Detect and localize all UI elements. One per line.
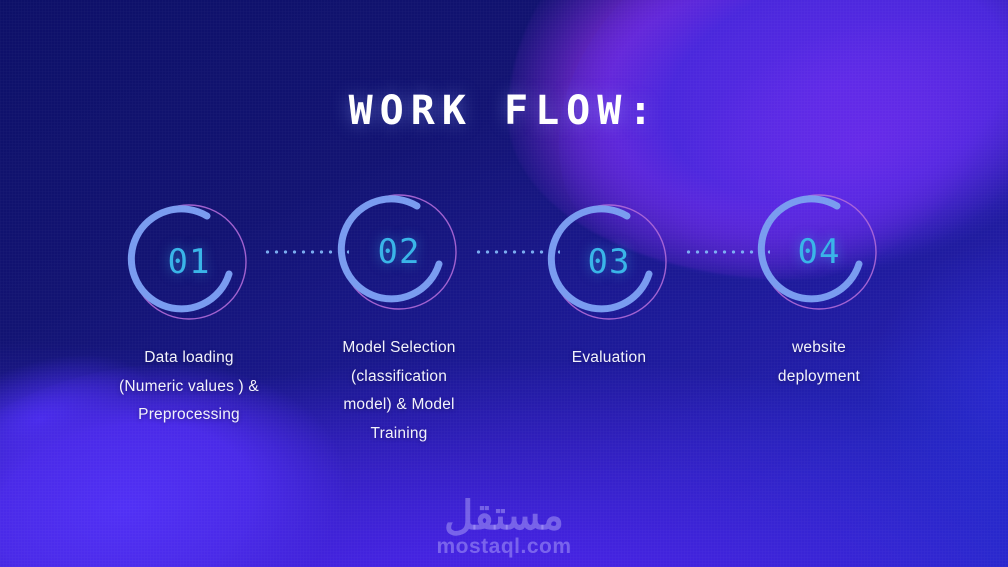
watermark-domain: mostaql.com <box>436 535 571 559</box>
step-label-04: website deployment <box>724 334 914 391</box>
workflow-step-02[interactable]: 02 Model Selection (classification model… <box>294 188 504 449</box>
workflow-slide: WORK FLOW: 01 Data loading (Numeric valu… <box>0 0 1008 567</box>
workflow-step-04[interactable]: 04 website deployment <box>714 188 924 391</box>
page-title: WORK FLOW: <box>0 88 1008 134</box>
step-circle-02: 02 <box>335 188 463 316</box>
step-number-02: 02 <box>378 235 421 269</box>
step-number-03: 03 <box>588 245 631 279</box>
watermark: مستقل mostaql.com <box>0 495 1008 559</box>
watermark-arabic-logo: مستقل <box>444 495 564 537</box>
step-circle-04: 04 <box>755 188 883 316</box>
workflow-steps: 01 Data loading (Numeric values ) & Prep… <box>0 188 1008 449</box>
step-number-04: 04 <box>798 235 841 269</box>
step-circle-01: 01 <box>125 198 253 326</box>
step-label-01: Data loading (Numeric values ) & Preproc… <box>94 344 284 430</box>
bottom-cropped-text <box>0 559 1008 567</box>
workflow-step-03[interactable]: 03 Evaluation <box>504 198 714 373</box>
step-circle-03: 03 <box>545 198 673 326</box>
step-label-03: Evaluation <box>514 344 704 373</box>
workflow-step-01[interactable]: 01 Data loading (Numeric values ) & Prep… <box>84 198 294 430</box>
step-label-02: Model Selection (classification model) &… <box>304 334 494 449</box>
step-number-01: 01 <box>168 245 211 279</box>
